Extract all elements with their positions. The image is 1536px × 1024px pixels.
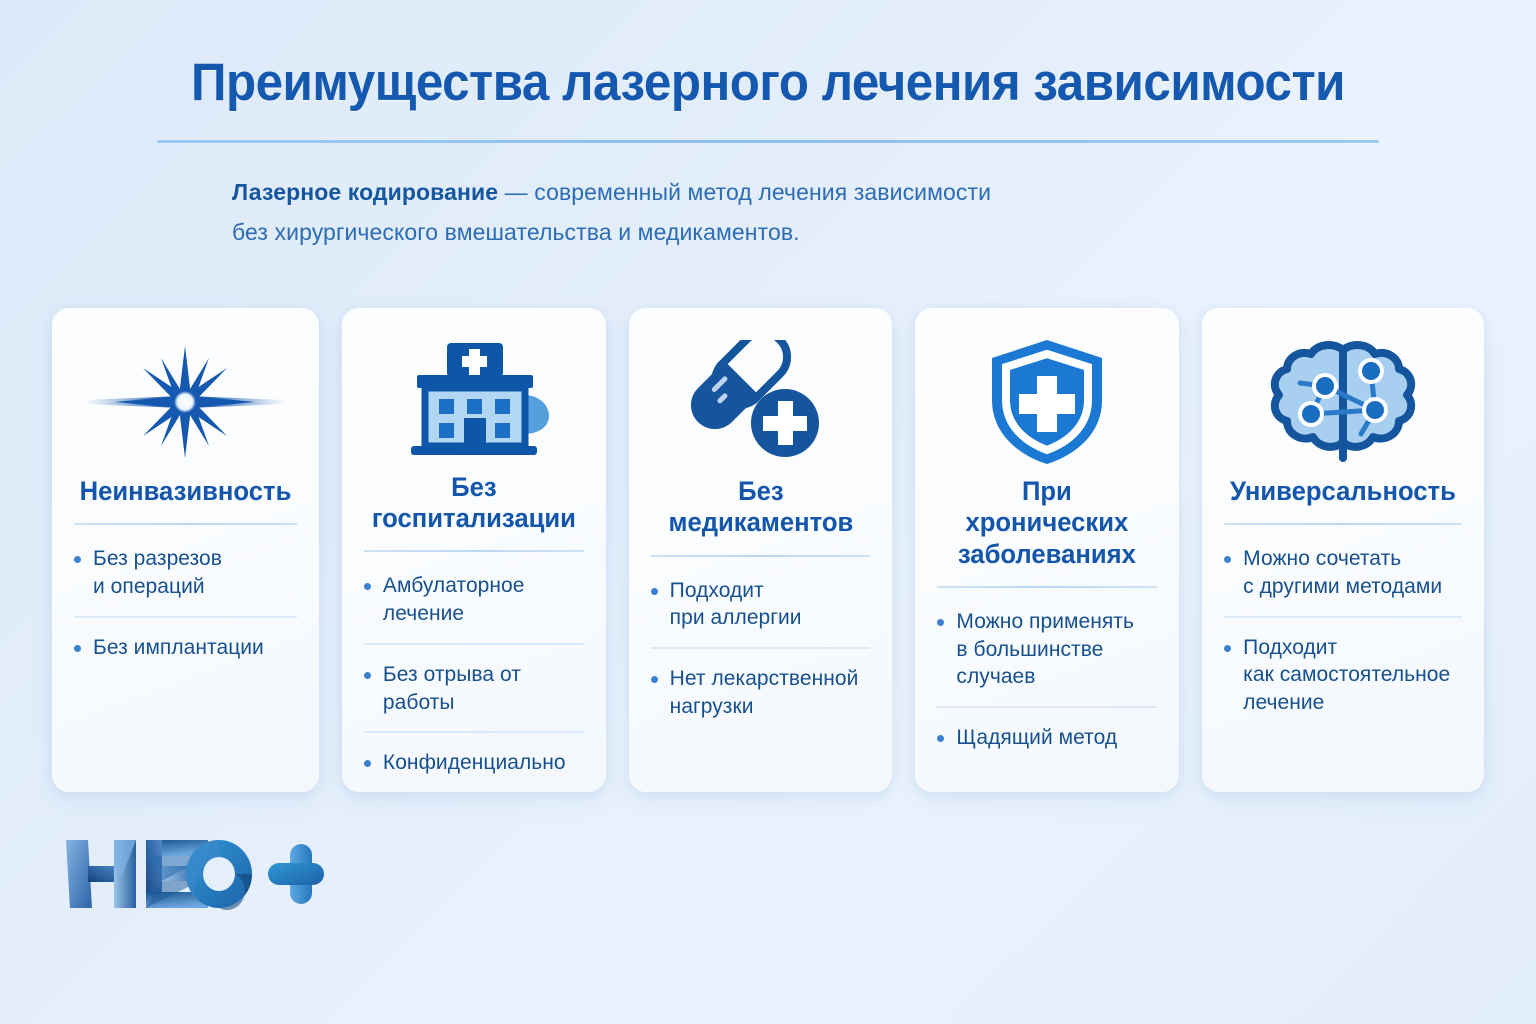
shield-cross-icon — [937, 334, 1157, 470]
bullet-list: Подходит при аллергии Нет лекарственной … — [651, 561, 871, 736]
card-title: При хронических заболеваниях — [943, 476, 1152, 570]
subtitle-rest: — современный метод лечения зависимости — [498, 179, 991, 205]
list-item: Без имплантации — [74, 616, 297, 677]
benefit-card-no-hospitalization[interactable]: Без госпитализации Амбулаторное лечение … — [342, 308, 606, 792]
benefit-card-universality[interactable]: Универсальность Можно сочетать с другими… — [1202, 308, 1484, 792]
list-item: Амбулаторное лечение — [364, 556, 584, 642]
bullet-list: Можно применять в большинстве случаев Ща… — [937, 592, 1157, 767]
page-title: Преимущества лазерного лечения зависимос… — [54, 54, 1482, 112]
subtitle: Лазерное кодирование — современный метод… — [0, 173, 1536, 252]
bullet-dot-icon — [1224, 645, 1231, 652]
infographic-page: Преимущества лазерного лечения зависимос… — [0, 0, 1536, 1024]
bullet-dot-icon — [651, 676, 658, 683]
bullet-text: Подходит как самостоятельное лечение — [1243, 634, 1450, 717]
bullet-dot-icon — [364, 672, 371, 679]
bullet-text: Щадящий метод — [956, 724, 1117, 752]
bullet-dot-icon — [937, 619, 944, 626]
bullet-dot-icon — [74, 645, 81, 652]
bullet-dot-icon — [1224, 556, 1231, 563]
bullet-text: Можно сочетать с другими методами — [1243, 545, 1442, 600]
bullet-dot-icon — [74, 556, 81, 563]
brand-logo[interactable] — [62, 836, 324, 912]
benefit-card-chronic-conditions[interactable]: При хронических заболеваниях Можно приме… — [915, 308, 1179, 792]
list-item: Можно применять в большинстве случаев — [937, 592, 1157, 706]
subtitle-strong: Лазерное кодирование — [232, 179, 498, 205]
list-item: Конфиденциально — [364, 731, 584, 792]
bullet-list: Без разрезов и операций Без имплантации — [74, 529, 297, 676]
subtitle-line-1: Лазерное кодирование — современный метод… — [232, 173, 1536, 213]
bullet-text: Можно применять в большинстве случаев — [956, 608, 1157, 691]
bullet-list: Можно сочетать с другими методами Подход… — [1224, 529, 1462, 732]
bullet-text: Амбулаторное лечение — [383, 572, 525, 627]
list-item: Без отрыва от работы — [364, 643, 584, 731]
header: Преимущества лазерного лечения зависимос… — [0, 0, 1536, 143]
bullet-dot-icon — [364, 760, 371, 767]
list-item: Щадящий метод — [937, 706, 1157, 767]
bullet-list: Амбулаторное лечение Без отрыва от работ… — [364, 556, 584, 792]
list-item: Подходит при аллергии — [651, 561, 871, 647]
card-title: Неинвазивность — [80, 476, 292, 507]
bullet-text: Без разрезов и операций — [93, 545, 222, 600]
card-title-divider — [74, 523, 297, 525]
brain-network-icon — [1224, 334, 1462, 470]
benefit-card-noninvasive[interactable]: Неинвазивность Без разрезов и операций Б… — [52, 308, 319, 792]
card-title-divider — [364, 550, 584, 552]
list-item: Без разрезов и операций — [74, 529, 297, 615]
card-title-divider — [651, 555, 871, 557]
bullet-text: Без имплантации — [93, 634, 264, 662]
bullet-dot-icon — [937, 735, 944, 742]
list-item: Подходит как самостоятельное лечение — [1224, 616, 1462, 732]
bullet-text: Конфиденциально — [383, 749, 566, 777]
subtitle-line-2: без хирургического вмешательства и медик… — [232, 213, 1536, 253]
title-divider — [157, 140, 1379, 143]
hospital-building-icon — [364, 334, 584, 466]
bullet-dot-icon — [651, 588, 658, 595]
card-title: Без медикаментов — [656, 476, 865, 539]
benefit-card-no-medication[interactable]: Без медикаментов Подходит при аллергии Н… — [629, 308, 893, 792]
card-title-divider — [937, 586, 1157, 588]
bullet-text: Подходит при аллергии — [670, 577, 802, 632]
card-title: Универсальность — [1230, 476, 1456, 507]
list-item: Нет лекарственной нагрузки — [651, 647, 871, 735]
benefit-cards: Неинвазивность Без разрезов и операций Б… — [52, 308, 1484, 792]
bullet-text: Нет лекарственной нагрузки — [670, 665, 859, 720]
bullet-dot-icon — [364, 583, 371, 590]
card-title: Без госпитализации — [369, 472, 578, 535]
list-item: Можно сочетать с другими методами — [1224, 529, 1462, 615]
laser-burst-icon — [74, 334, 297, 470]
card-title-divider — [1224, 523, 1462, 525]
bullet-text: Без отрыва от работы — [383, 661, 584, 716]
pill-capsule-cross-icon — [651, 334, 871, 470]
